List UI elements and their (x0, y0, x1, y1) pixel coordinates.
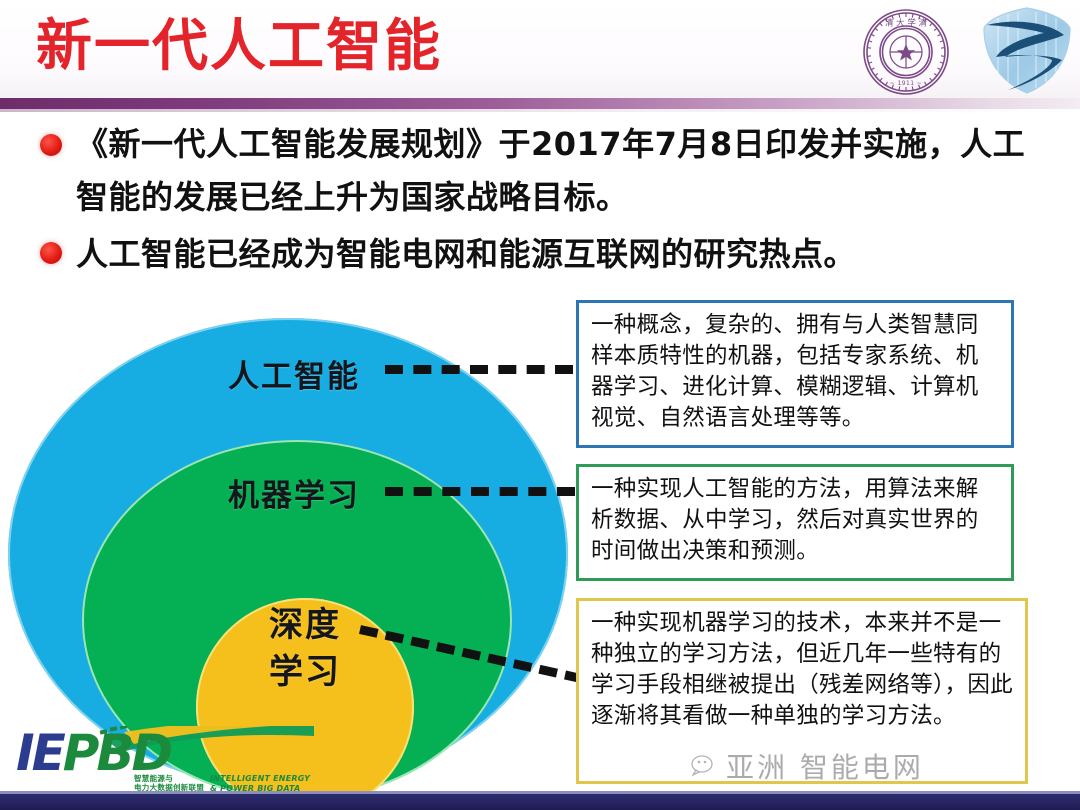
iepbd-mark-p: P (63, 724, 97, 782)
leader-line-ai (385, 365, 573, 374)
iepbd-subtitle-en-line1: INTELLIGENT ENERGY (210, 774, 310, 784)
iepbd-subtitle-cn: 智慧能源与 电力大数据创新联盟 (134, 774, 204, 792)
wechat-bubble-icon (690, 754, 720, 778)
iepbd-mark-ie: IE (16, 724, 63, 782)
bullet-marker-icon (40, 242, 62, 264)
wechat-watermark: 亚洲 智能电网 (690, 744, 1070, 788)
iepbd-subtitle-cn-line1: 智慧能源与 (134, 774, 204, 783)
svg-text:清 大 学 清: 清 大 学 清 (885, 18, 928, 29)
bullet-marker-icon (40, 134, 62, 156)
bullet-item: 《新一代人工智能发展规划》于2017年7月8日印发并实施，人工智能的发展已经上升… (26, 118, 1056, 224)
callout-box-ai: 一种概念，复杂的、拥有与人类智慧同样本质特性的机器，包括专家系统、机器学习、进化… (576, 300, 1014, 448)
callout-box-ml: 一种实现人工智能的方法，用算法来解析数据、从中学习，然后对真实世界的时间做出决策… (576, 464, 1014, 581)
bullet-text: 《新一代人工智能发展规划》于2017年7月8日印发并实施，人工智能的发展已经上升… (76, 118, 1056, 224)
slide-header: 新一代人工智能 (0, 0, 1080, 98)
svg-text:~ 1911 ~: ~ 1911 ~ (890, 80, 922, 87)
slide-canvas: 新一代人工智能 (0, 0, 1080, 810)
page-title: 新一代人工智能 (36, 12, 442, 82)
header-divider-shadow (0, 109, 1080, 112)
bullet-item: 人工智能已经成为智能电网和能源互联网的研究热点。 (26, 228, 1056, 281)
leader-line-ml (385, 487, 575, 496)
venn-label-ai: 人工智能 (228, 351, 360, 396)
watermark-text: 亚洲 智能电网 (726, 746, 924, 786)
venn-label-dl-line2: 学习 (231, 649, 379, 696)
venn-label-dl: 深度 学习 (231, 602, 379, 696)
tsinghua-university-seal-icon: 清 大 学 清 ~ 1911 ~ (858, 6, 954, 98)
blue-shield-logo-icon (978, 2, 1076, 98)
header-divider-rule (0, 98, 1080, 109)
iepbd-logo: IEPBD 智慧能源与 电力大数据创新联盟 INTELLIGENT ENERGY… (14, 726, 314, 792)
venn-label-ml: 机器学习 (228, 470, 360, 515)
iepbd-wordmark: IEPBD (16, 728, 170, 778)
bullet-list: 《新一代人工智能发展规划》于2017年7月8日印发并实施，人工智能的发展已经上升… (26, 118, 1056, 285)
venn-label-dl-line1: 深度 (231, 602, 379, 649)
bullet-text: 人工智能已经成为智能电网和能源互联网的研究热点。 (76, 228, 1056, 281)
footer-bar (0, 794, 1080, 810)
